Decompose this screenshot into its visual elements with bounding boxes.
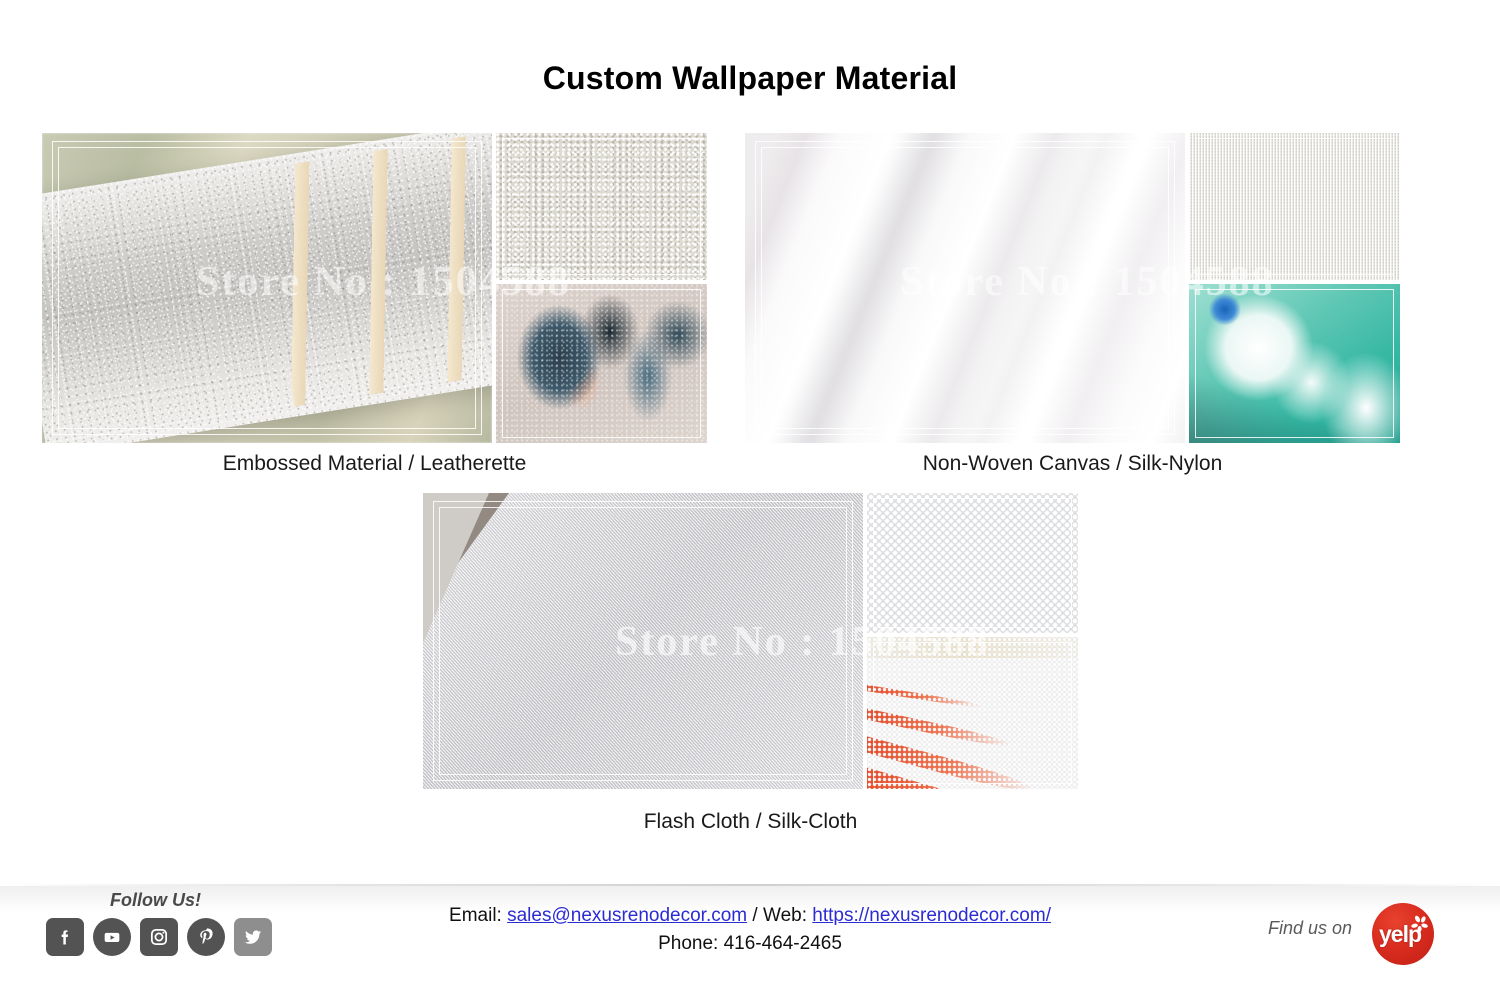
- yelp-logo[interactable]: yelp: [1372, 903, 1434, 965]
- non-woven-weave-swatch: [1189, 133, 1400, 280]
- caption-non-woven: Non-Woven Canvas / Silk-Nylon: [745, 452, 1400, 476]
- yelp-burst-icon: [1410, 914, 1430, 934]
- flash-cloth-bump-swatch: [867, 493, 1078, 633]
- bump-texture: [867, 493, 1078, 633]
- orange-print-swatch: [867, 637, 1078, 789]
- silk-drape-photo: [745, 133, 1185, 443]
- web-label: Web:: [763, 905, 807, 926]
- embossed-texture-swatch: [496, 133, 707, 280]
- find-us-on-label: Find us on: [1268, 918, 1352, 939]
- caption-embossed: Embossed Material / Leatherette: [42, 452, 707, 476]
- stucco-texture: [496, 133, 707, 280]
- embossed-wallpaper-roll-photo: [42, 133, 492, 443]
- contact-separator: /: [752, 905, 757, 926]
- email-label: Email:: [449, 905, 502, 926]
- orange-print-texture: [867, 637, 1078, 789]
- teal-floral-texture: [1189, 284, 1400, 443]
- orange-stripe: [867, 762, 1047, 789]
- folded-corner-flap: [423, 493, 489, 643]
- print-top-edge: [867, 637, 1078, 658]
- flash-cloth-photo: [423, 493, 863, 789]
- teal-floral-silk-swatch: [1189, 284, 1400, 443]
- page-title: Custom Wallpaper Material: [0, 60, 1500, 97]
- caption-flash-cloth: Flash Cloth / Silk-Cloth: [423, 810, 1078, 834]
- roll-curl-edges: [257, 133, 492, 406]
- silk-drape-texture: [745, 133, 1185, 443]
- orange-stripe: [867, 683, 984, 709]
- embossed-floral-print-swatch: [496, 284, 707, 443]
- website-link[interactable]: https://nexusrenodecor.com/: [812, 905, 1051, 926]
- orange-stripe: [867, 706, 1012, 751]
- orange-stripe: [867, 732, 1035, 789]
- floral-print-texture: [496, 284, 707, 443]
- email-link[interactable]: sales@nexusrenodecor.com: [507, 905, 747, 926]
- weave-texture: [1189, 133, 1400, 280]
